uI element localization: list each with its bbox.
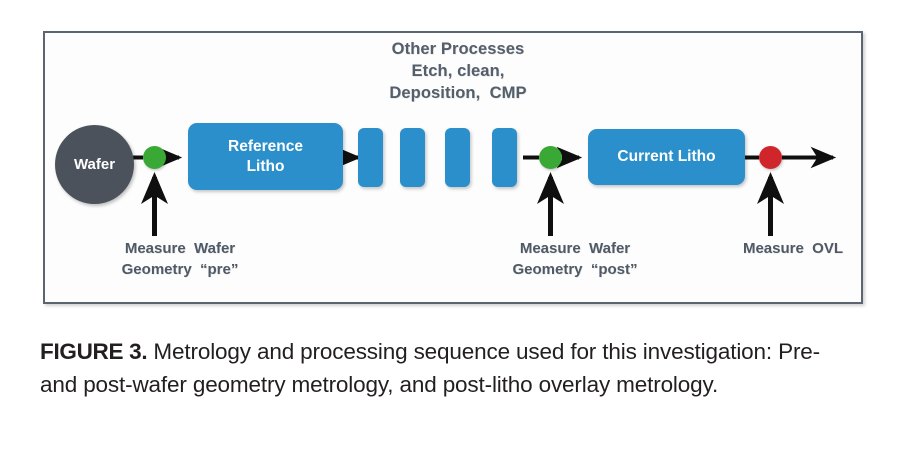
other-processes-line-1: Other Processes: [328, 38, 588, 60]
node-reference-litho: Reference Litho: [188, 123, 343, 190]
process-step-box: [358, 128, 383, 187]
other-processes-header: Other Processes Etch, clean, Deposition,…: [328, 38, 588, 104]
marker-measure-ovl: [759, 146, 782, 169]
figure-caption-text: Metrology and processing sequence used f…: [40, 339, 820, 397]
figure-caption-number: FIGURE 3.: [40, 339, 147, 364]
process-step-box: [400, 128, 425, 187]
other-processes-line-3: Deposition, CMP: [328, 82, 588, 104]
marker-measure-wafer-geometry-pre: [143, 146, 166, 169]
node-current-litho: Current Litho: [588, 129, 745, 185]
figure-frame: Other Processes Etch, clean, Deposition,…: [43, 31, 863, 304]
label-measure-wafer-geometry-pre: Measure Wafer Geometry “pre”: [60, 238, 300, 280]
label-measure-wafer-geometry-post: Measure Wafer Geometry “post”: [455, 238, 695, 280]
process-step-box: [445, 128, 470, 187]
marker-measure-wafer-geometry-post: [539, 146, 562, 169]
process-step-box: [492, 128, 517, 187]
label-measure-ovl: Measure OVL: [683, 238, 903, 259]
figure-caption: FIGURE 3. Metrology and processing seque…: [40, 336, 830, 401]
other-processes-line-2: Etch, clean,: [328, 60, 588, 82]
node-wafer: Wafer: [55, 125, 134, 204]
